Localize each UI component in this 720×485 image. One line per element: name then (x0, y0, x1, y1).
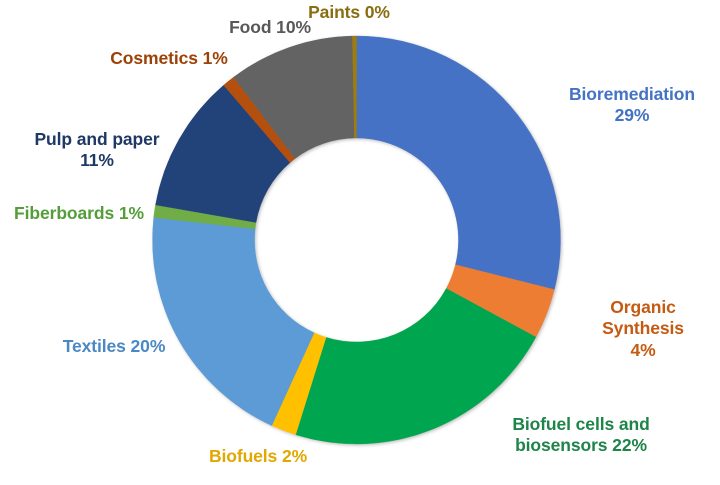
slice-label-cosmetics: Cosmetics 1% (108, 48, 230, 69)
slice-label-biofuel-cells-and-biosensors: Biofuel cells and biosensors 22% (500, 414, 662, 457)
slice-label-bioremediation: Bioremediation 29% (548, 84, 716, 127)
donut-chart: Bioremediation 29% Organic Synthesis 4% … (0, 0, 720, 485)
donut-slice-bioremediation[interactable] (357, 36, 561, 290)
donut-chart-svg (0, 0, 720, 485)
donut-slice-group (153, 36, 561, 444)
slice-label-biofuels: Biofuels 2% (198, 446, 318, 467)
slice-label-organic-synthesis: Organic Synthesis 4% (568, 297, 718, 361)
slice-label-textiles: Textiles 20% (52, 336, 176, 357)
slice-label-paints: Paints 0% (300, 2, 398, 23)
slice-label-fiberboards: Fiberboards 1% (6, 203, 152, 224)
slice-label-pulp-and-paper: Pulp and paper 11% (26, 129, 168, 172)
